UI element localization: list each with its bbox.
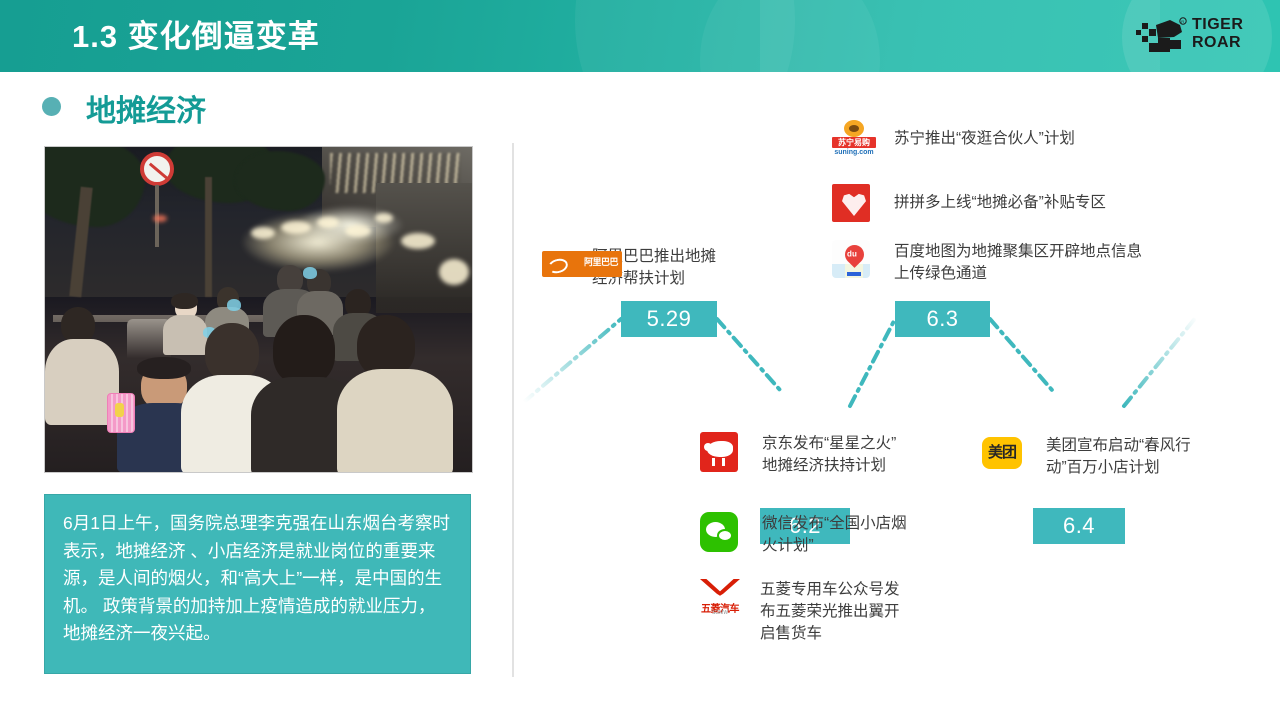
- tiger-head-icon: R: [1136, 16, 1192, 58]
- timeline-item-jd[interactable]: 京东发布“星星之火” 地摊经济扶持计划: [700, 432, 896, 477]
- timeline-badge-64[interactable]: 6.4: [1033, 508, 1125, 544]
- timeline-item-suning[interactable]: 苏宁易购 suning.com 苏宁推出“夜逛合伙人”计划: [832, 120, 1075, 158]
- badge-label: 6.4: [1063, 513, 1095, 539]
- section-title: 地摊经济: [86, 86, 206, 130]
- slide-header: 1.3 变化倒逼变革 R TIGER ROAR: [0, 0, 1280, 72]
- meituan-logo-label: 美团: [982, 437, 1022, 469]
- suning-domain-label: suning.com: [832, 149, 876, 156]
- logo-text-line1: TIGER: [1192, 16, 1260, 34]
- tiger-roar-logo: R TIGER ROAR: [1136, 14, 1260, 60]
- timeline-item-pinduoduo[interactable]: 拼拼多上线“地摊必备”补贴专区: [832, 184, 1106, 222]
- badge-label: 5.29: [647, 306, 692, 332]
- timeline-item-text: 百度地图为地摊聚集区开辟地点信息 上传绿色通道: [894, 240, 1142, 285]
- timeline-item-text: 美团宣布启动“春风行 动”百万小店计划: [1046, 434, 1191, 479]
- header-decoration-panel: [760, 0, 1160, 72]
- pinduoduo-logo-icon: [832, 184, 870, 222]
- baidu-map-logo-icon: [832, 240, 870, 278]
- svg-text:R: R: [1181, 19, 1184, 24]
- suning-logo-label: 苏宁易购: [832, 137, 876, 148]
- timeline-badge-529[interactable]: 5.29: [621, 301, 717, 337]
- wuling-sub-label: SGMW: [696, 610, 744, 616]
- timeline-item-text: 微信发布“全国小店烟 火计划”: [762, 512, 907, 557]
- logo-text-line2: ROAR: [1192, 34, 1260, 52]
- wuling-logo-icon: 五菱汽车 SGMW: [696, 578, 734, 618]
- alibaba-logo-icon: [542, 245, 580, 283]
- quote-box: 6月1日上午，国务院总理李克强在山东烟台考察时表示，地摊经济 、小店经济是就业岗…: [44, 494, 471, 674]
- timeline-item-text: 五菱专用车公众号发 布五菱荣光推出翼开 启售货车: [760, 578, 900, 645]
- timeline-item-text: 京东发布“星星之火” 地摊经济扶持计划: [762, 432, 896, 477]
- timeline-item-wechat[interactable]: 微信发布“全国小店烟 火计划”: [700, 512, 907, 557]
- timeline-item-baidu-map[interactable]: 百度地图为地摊聚集区开辟地点信息 上传绿色通道: [832, 240, 1142, 285]
- timeline-item-wuling[interactable]: 五菱汽车 SGMW 五菱专用车公众号发 布五菱荣光推出翼开 启售货车: [696, 578, 900, 645]
- night-market-photo: [44, 146, 473, 473]
- suning-logo-icon: 苏宁易购 suning.com: [832, 120, 870, 158]
- timeline-item-alibaba[interactable]: 阿里巴巴推出地摊 经济帮扶计划: [542, 245, 716, 290]
- timeline-item-text: 拼拼多上线“地摊必备”补贴专区: [894, 184, 1106, 214]
- wechat-logo-icon: [700, 512, 738, 552]
- timeline-item-text: 苏宁推出“夜逛合伙人”计划: [894, 120, 1075, 150]
- badge-label: 6.3: [926, 306, 958, 332]
- timeline-badge-63[interactable]: 6.3: [895, 301, 990, 337]
- quote-text: 6月1日上午，国务院总理李克强在山东烟台考察时表示，地摊经济 、小店经济是就业岗…: [63, 510, 452, 648]
- timeline: 5.29 6.2 6.3 6.4 阿里巴巴推出地摊 经济帮扶计划 苏宁易购 su…: [512, 120, 1280, 680]
- section-bullet-icon: [42, 97, 61, 116]
- timeline-item-meituan[interactable]: 美团 美团宣布启动“春风行 动”百万小店计划: [982, 434, 1191, 479]
- slide-title: 1.3 变化倒逼变革: [72, 11, 320, 56]
- meituan-logo-icon: 美团: [982, 434, 1020, 472]
- jd-logo-icon: [700, 432, 738, 472]
